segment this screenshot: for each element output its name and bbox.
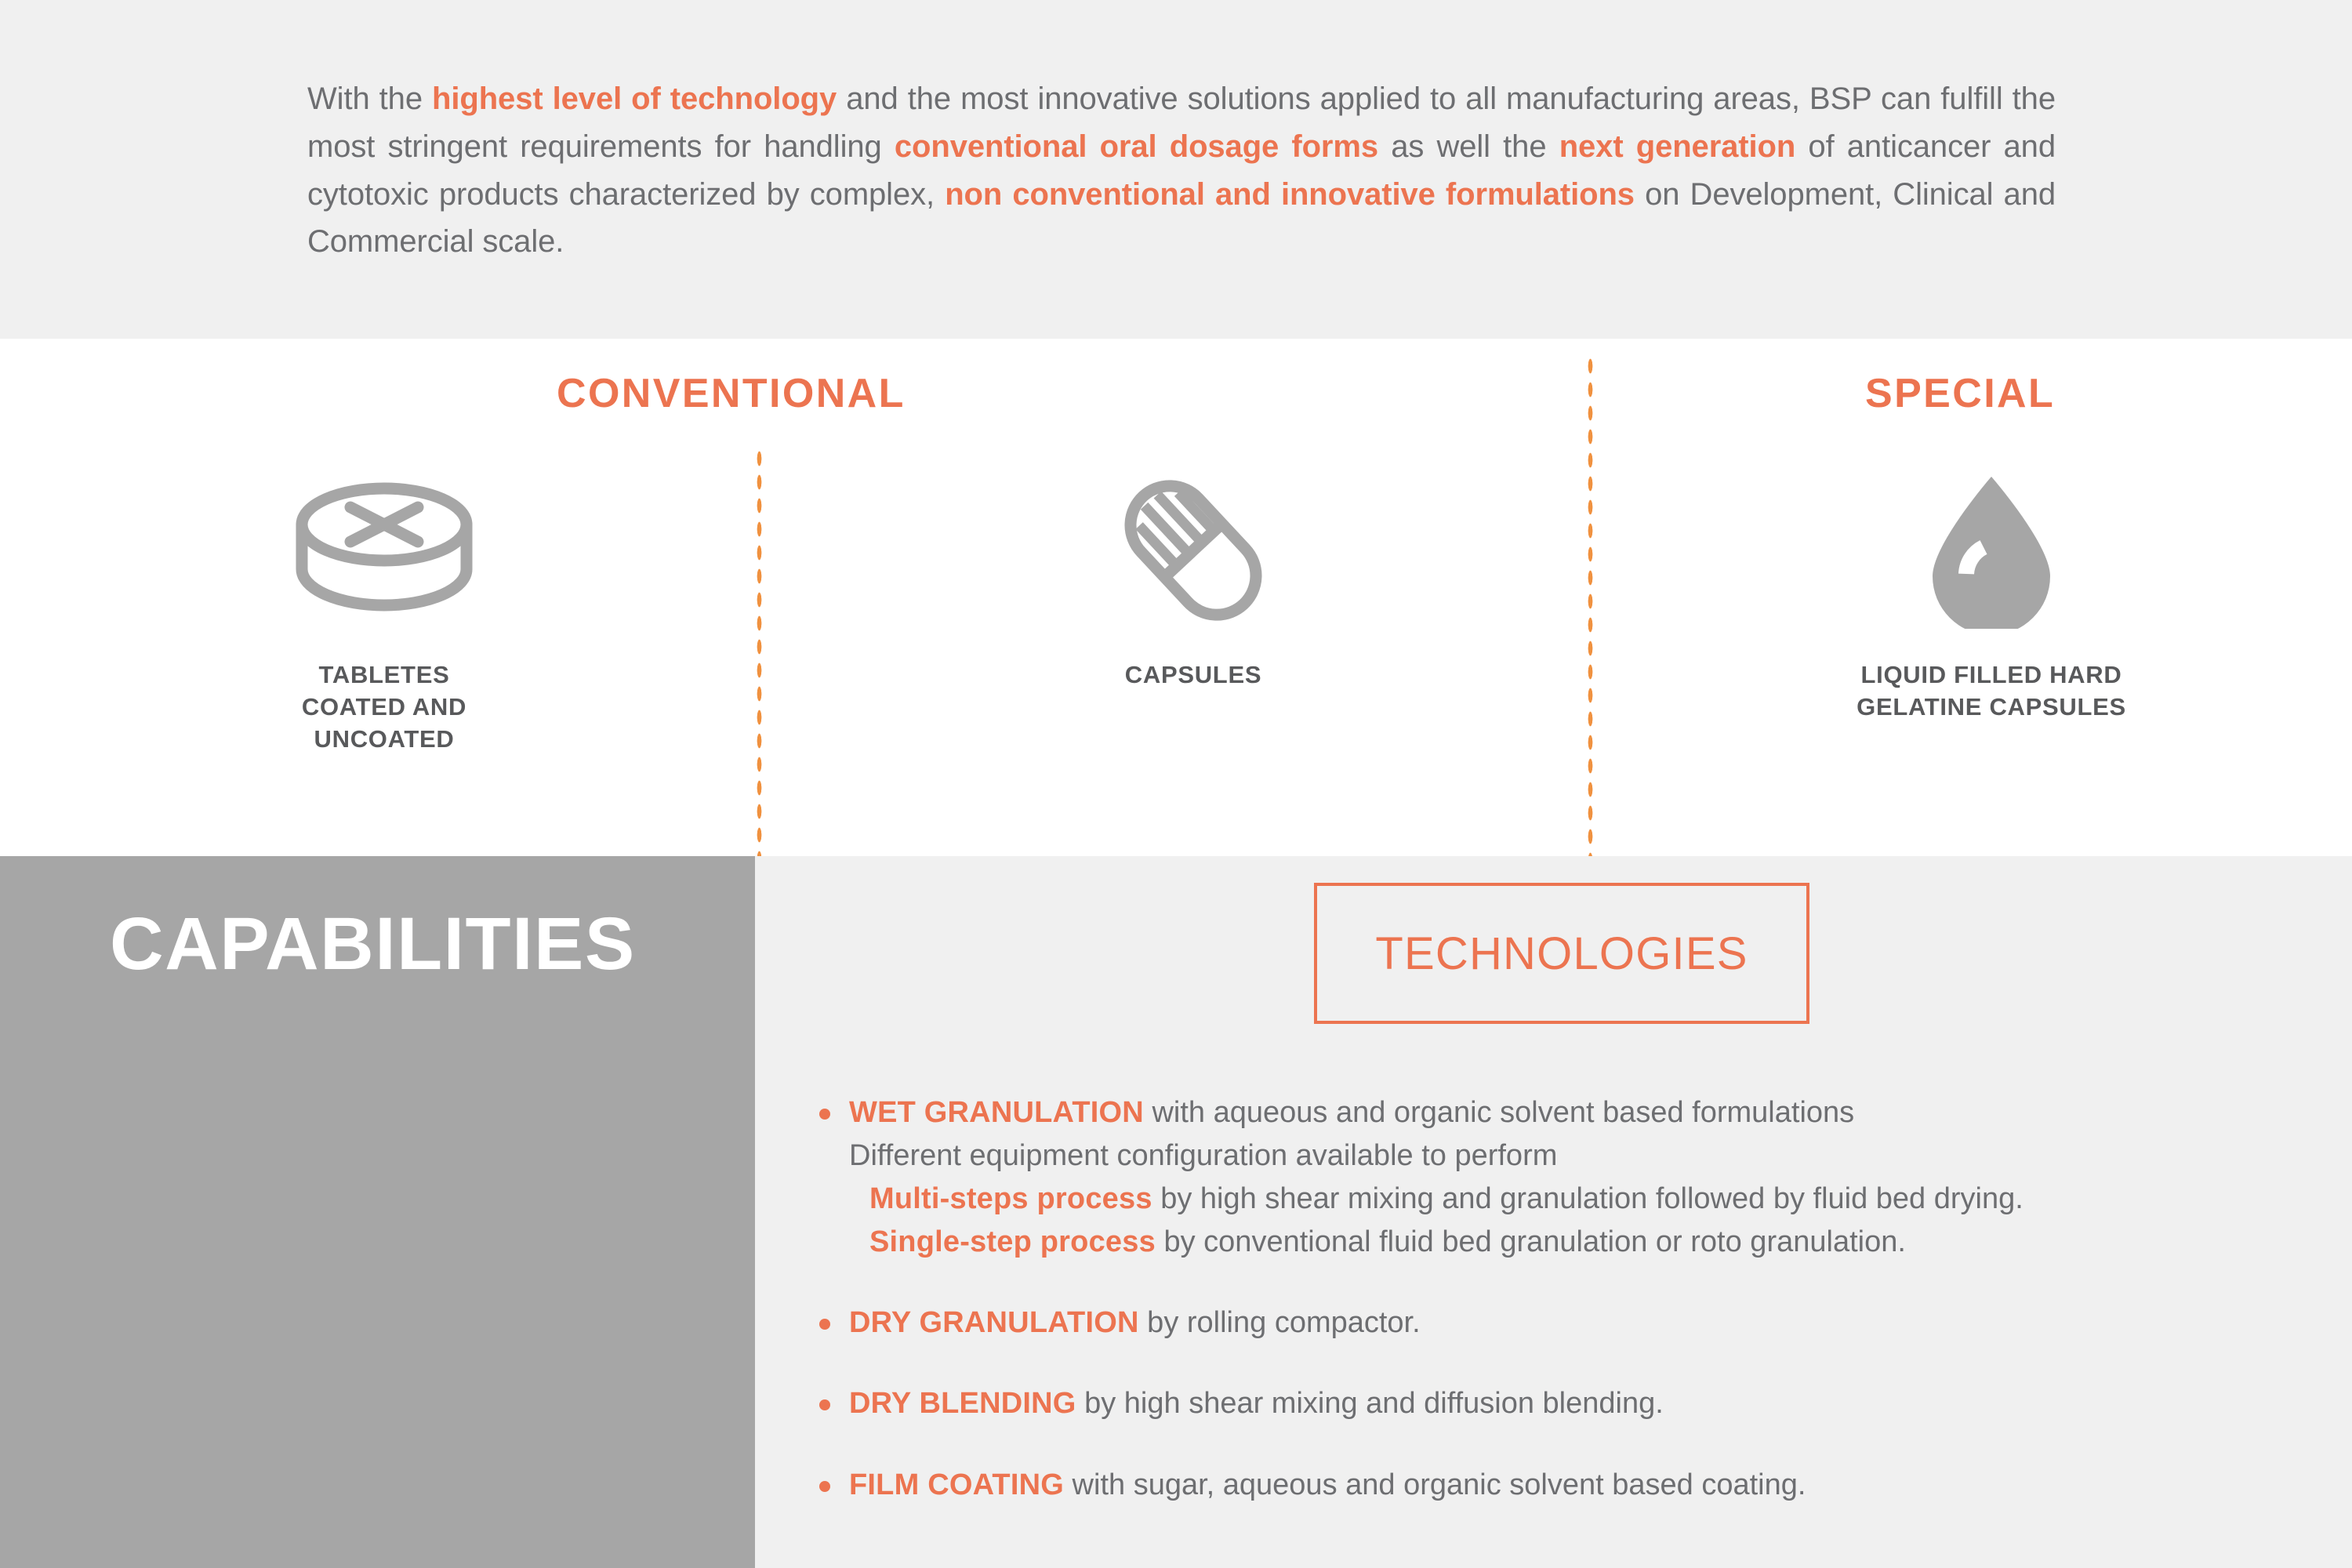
form-label-line: TABLETES <box>118 659 651 691</box>
technology-bullet-item: DRY GRANULATION by rolling compactor. <box>819 1301 2246 1345</box>
tablet-icon <box>118 472 651 629</box>
form-label-capsules: CAPSULES <box>927 659 1460 691</box>
technology-text-run: by high shear mixing and diffusion blend… <box>1076 1387 1664 1420</box>
technology-text-run: by high shear mixing and granulation fol… <box>1152 1182 2024 1215</box>
technology-bullet-item: FILM COATING with sugar, aqueous and org… <box>819 1464 2246 1507</box>
intro-highlight: next generation <box>1559 129 1796 164</box>
technology-keyword: WET GRANULATION <box>849 1096 1144 1129</box>
technology-bullet-body: DRY BLENDING by high shear mixing and di… <box>819 1382 2246 1425</box>
technology-keyword: Single-step process <box>869 1225 1156 1258</box>
technologies-title: TECHNOLOGIES <box>1375 927 1748 980</box>
technology-keyword: Multi-steps process <box>869 1182 1152 1215</box>
form-card-liquid-filled: LIQUID FILLED HARD GELATINE CAPSULES <box>1725 472 2258 723</box>
technology-bullet-item: WET GRANULATION with aqueous and organic… <box>819 1091 2246 1264</box>
intro-highlight: highest level of technology <box>432 82 837 116</box>
intro-band: With the highest level of technology and… <box>0 0 2352 339</box>
technology-bullet-line: FILM COATING with sugar, aqueous and org… <box>849 1464 2246 1507</box>
capabilities-panel: CAPABILITIES <box>0 856 755 1568</box>
intro-text-run: With the <box>307 82 432 116</box>
technology-text-run: Different equipment configuration availa… <box>849 1139 1557 1172</box>
technology-bullet-body: FILM COATING with sugar, aqueous and org… <box>819 1464 2246 1507</box>
form-label-tablets: TABLETES COATED AND UNCOATED <box>118 659 651 756</box>
technology-bullet-line: Single-step process by conventional flui… <box>849 1221 2246 1264</box>
bullet-dot-icon <box>819 1481 830 1492</box>
technology-text-run: by rolling compactor. <box>1139 1306 1421 1339</box>
intro-highlight: conventional oral dosage forms <box>895 129 1378 164</box>
bullet-dot-icon <box>819 1109 830 1120</box>
dosage-forms-band: CONVENTIONAL SPECIAL TABLETES COATED AND… <box>0 339 2352 856</box>
technology-bullet-line: Multi-steps process by high shear mixing… <box>849 1178 2246 1221</box>
intro-highlight: non conventional and innovative formulat… <box>945 177 1635 212</box>
technology-bullet-line: Different equipment configuration availa… <box>849 1134 2246 1178</box>
technologies-list: WET GRANULATION with aqueous and organic… <box>819 1091 2246 1507</box>
form-card-capsules: CAPSULES <box>927 472 1460 691</box>
technology-text-run: by conventional fluid bed granulation or… <box>1156 1225 1906 1258</box>
technology-keyword: DRY BLENDING <box>849 1387 1076 1420</box>
technology-bullet-body: WET GRANULATION with aqueous and organic… <box>819 1091 2246 1264</box>
form-label-line: LIQUID FILLED HARD <box>1725 659 2258 691</box>
dotted-divider-right <box>1587 354 1594 860</box>
capabilities-title: CAPABILITIES <box>110 902 636 987</box>
infographic-page: With the highest level of technology and… <box>0 0 2352 1568</box>
technology-bullet-line: WET GRANULATION with aqueous and organic… <box>849 1091 2246 1134</box>
technology-bullet-line: DRY GRANULATION by rolling compactor. <box>849 1301 2246 1345</box>
form-label-line: UNCOATED <box>118 723 651 755</box>
technology-bullet-body: DRY GRANULATION by rolling compactor. <box>819 1301 2246 1345</box>
column-heading-special: SPECIAL <box>1865 370 2055 417</box>
technology-text-run: with sugar, aqueous and organic solvent … <box>1064 1468 1806 1501</box>
intro-paragraph: With the highest level of technology and… <box>307 75 2056 266</box>
form-label-line: COATED AND <box>118 691 651 723</box>
form-label-line: CAPSULES <box>927 659 1460 691</box>
technology-bullet-item: DRY BLENDING by high shear mixing and di… <box>819 1382 2246 1425</box>
capsule-icon <box>927 472 1460 629</box>
technology-text-run: with aqueous and organic solvent based f… <box>1144 1096 1854 1129</box>
technology-keyword: DRY GRANULATION <box>849 1306 1139 1339</box>
form-card-tablets: TABLETES COATED AND UNCOATED <box>118 472 651 756</box>
technology-bullet-line: DRY BLENDING by high shear mixing and di… <box>849 1382 2246 1425</box>
intro-text-run: as well the <box>1378 129 1559 164</box>
technologies-title-box: TECHNOLOGIES <box>1314 883 1809 1024</box>
form-label-liquid-filled: LIQUID FILLED HARD GELATINE CAPSULES <box>1725 659 2258 723</box>
dotted-divider-left <box>756 447 763 858</box>
form-label-line: GELATINE CAPSULES <box>1725 691 2258 723</box>
droplet-icon <box>1725 472 2258 629</box>
column-heading-conventional: CONVENTIONAL <box>557 370 906 417</box>
technology-keyword: FILM COATING <box>849 1468 1064 1501</box>
